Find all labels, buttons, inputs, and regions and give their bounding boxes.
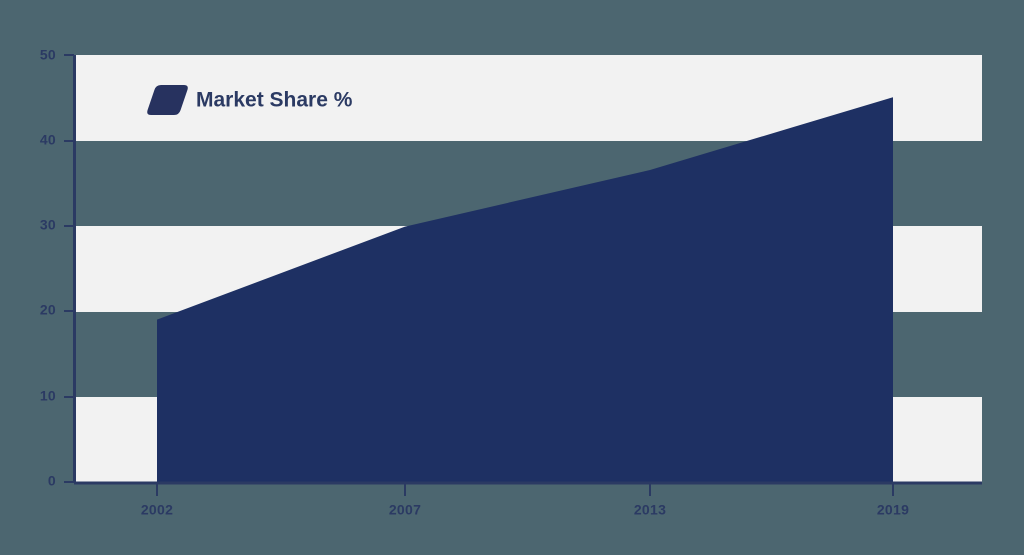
y-tick-label-0: 0 [48, 473, 56, 489]
x-tick-label-2002: 2002 [141, 501, 173, 517]
x-tick-label-2013: 2013 [634, 501, 666, 517]
x-tick-label-2007: 2007 [389, 501, 421, 517]
x-tick-label-2019: 2019 [877, 501, 909, 517]
area-chart: 0 10 20 30 40 50 2002 2007 2013 2019 Mar… [0, 0, 1024, 555]
y-tick-label-30: 30 [40, 217, 56, 233]
chart-canvas: 0 10 20 30 40 50 2002 2007 2013 2019 Mar… [0, 0, 1024, 555]
y-tick-label-20: 20 [40, 302, 56, 318]
chart-legend[interactable]: Market Share % [147, 85, 353, 115]
y-tick-label-50: 50 [40, 47, 56, 63]
y-tick-label-40: 40 [40, 132, 56, 148]
y-tick-label-10: 10 [40, 388, 56, 404]
legend-label-market-share: Market Share % [196, 89, 353, 112]
